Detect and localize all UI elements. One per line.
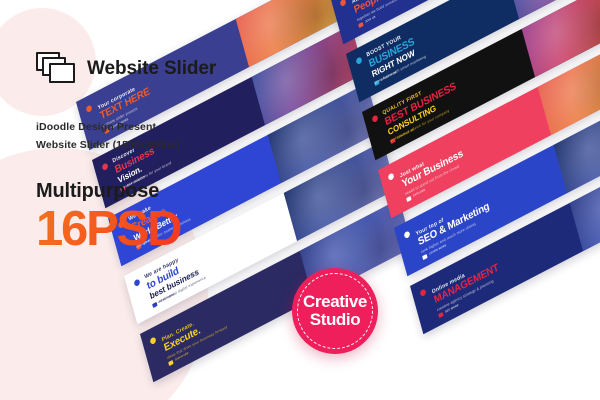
poster-canvas: Your corporateTEXT HEREwebsite slider pr… [0, 0, 600, 400]
stamp-line-1: Creative [303, 293, 367, 311]
headline-kicker: Multipurpose [36, 180, 236, 203]
info-panel: Website Slider iDoodle Design Present We… [36, 52, 236, 254]
stamp-line-2: Studio [310, 311, 360, 329]
subtitle-block: iDoodle Design Present Website Slider (1… [36, 118, 236, 154]
brand-lockup: Website Slider [36, 52, 236, 86]
headline-count: 16PSD [36, 205, 236, 254]
creative-studio-stamp: Creative Studio [292, 268, 378, 354]
stacked-slides-icon [36, 52, 76, 86]
subtitle-line-1: iDoodle Design Present [36, 118, 236, 136]
brand-title: Website Slider [87, 58, 216, 80]
subtitle-line-2: Website Slider (1500x400px) [36, 136, 236, 154]
